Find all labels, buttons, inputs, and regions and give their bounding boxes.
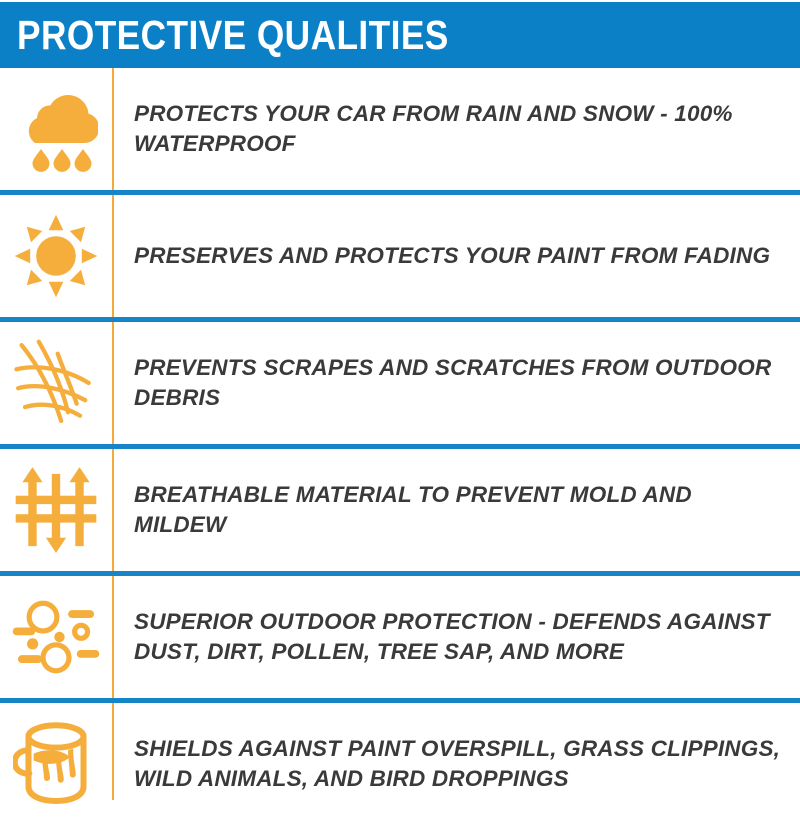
- feature-text: PREVENTS SCRAPES AND SCRATCHES FROM OUTD…: [134, 353, 784, 413]
- feature-text-cell: SUPERIOR OUTDOOR PROTECTION - DEFENDS AG…: [112, 607, 800, 667]
- page-title: PROTECTIVE QUALITIES: [17, 15, 449, 56]
- dust-pollen-icon: [0, 576, 112, 698]
- feature-text: SUPERIOR OUTDOOR PROTECTION - DEFENDS AG…: [134, 607, 784, 667]
- feature-list: PROTECTS YOUR CAR FROM RAIN AND SNOW - 1…: [0, 68, 800, 825]
- feature-text: SHIELDS AGAINST PAINT OVERSPILL, GRASS C…: [134, 734, 784, 794]
- header-banner: PROTECTIVE QUALITIES: [0, 2, 800, 68]
- feature-text-cell: PREVENTS SCRAPES AND SCRATCHES FROM OUTD…: [112, 353, 800, 413]
- feature-text-cell: BREATHABLE MATERIAL TO PREVENT MOLD AND …: [112, 480, 800, 540]
- feature-row: BREATHABLE MATERIAL TO PREVENT MOLD AND …: [0, 449, 800, 571]
- breathable-airflow-icon: [0, 449, 112, 571]
- feature-text: PROTECTS YOUR CAR FROM RAIN AND SNOW - 1…: [134, 99, 784, 159]
- feature-row: PROTECTS YOUR CAR FROM RAIN AND SNOW - 1…: [0, 68, 800, 190]
- feature-text-cell: SHIELDS AGAINST PAINT OVERSPILL, GRASS C…: [112, 734, 800, 794]
- paint-can-icon: [0, 703, 112, 825]
- feature-text: BREATHABLE MATERIAL TO PREVENT MOLD AND …: [134, 480, 784, 540]
- feature-row: SHIELDS AGAINST PAINT OVERSPILL, GRASS C…: [0, 703, 800, 825]
- feature-text-cell: PRESERVES AND PROTECTS YOUR PAINT FROM F…: [112, 241, 800, 271]
- rain-cloud-icon: [0, 68, 112, 190]
- scratches-icon: [0, 322, 112, 444]
- feature-row: PRESERVES AND PROTECTS YOUR PAINT FROM F…: [0, 195, 800, 317]
- sun-icon: [0, 195, 112, 317]
- feature-row: SUPERIOR OUTDOOR PROTECTION - DEFENDS AG…: [0, 576, 800, 698]
- feature-text-cell: PROTECTS YOUR CAR FROM RAIN AND SNOW - 1…: [112, 99, 800, 159]
- infographic-page: PROTECTIVE QUALITIES PROTECTS YOUR CAR F…: [0, 0, 800, 800]
- feature-row: PREVENTS SCRAPES AND SCRATCHES FROM OUTD…: [0, 322, 800, 444]
- feature-text: PRESERVES AND PROTECTS YOUR PAINT FROM F…: [134, 241, 784, 271]
